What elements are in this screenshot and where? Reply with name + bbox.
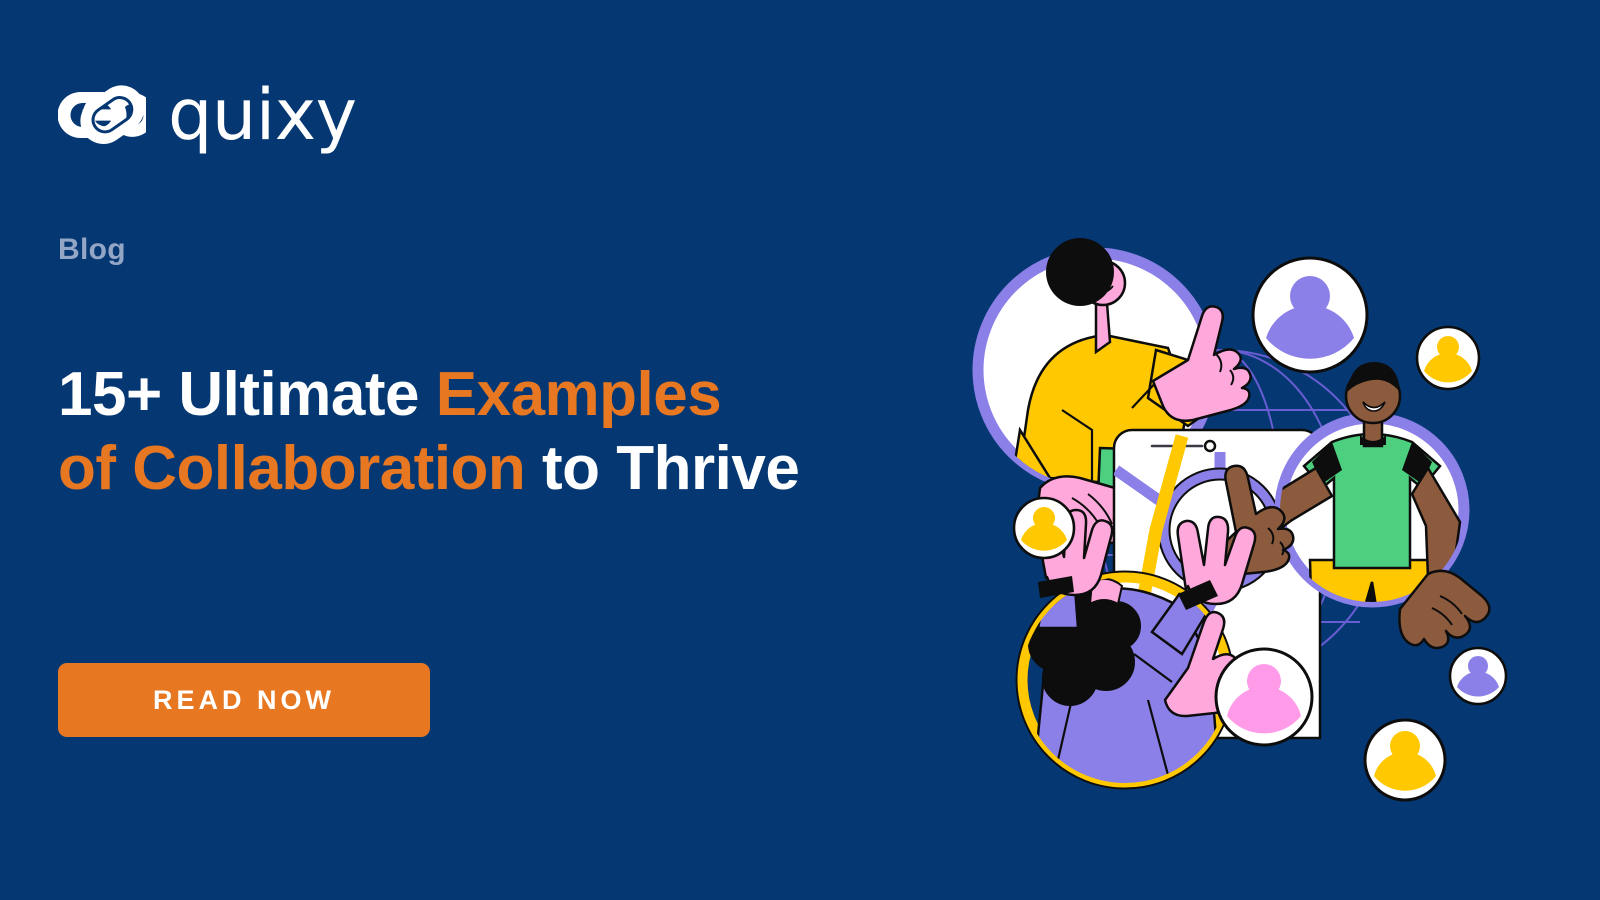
avatar-bubble-yellow-bottom[interactable] <box>1365 720 1445 800</box>
headline-part-4: to Thrive <box>525 434 799 503</box>
team-collaboration-network-illustration <box>920 230 1520 810</box>
avatar-bubble-yellow-small-right[interactable] <box>1417 327 1479 389</box>
avatar-bubble-pink[interactable] <box>1216 649 1312 745</box>
brand-logo[interactable]: quixy <box>58 80 357 150</box>
avatar-bubble-purple-small[interactable] <box>1450 648 1506 704</box>
blog-promo-banner: quixy Blog 15+ Ultimate Examplesof Colla… <box>0 0 1600 900</box>
read-now-button[interactable]: READ NOW <box>58 663 430 737</box>
avatar-bubble-purple-large[interactable] <box>1253 258 1367 372</box>
brand-name: quixy <box>168 80 357 150</box>
headline-part-2: Examples <box>436 360 722 429</box>
page-title: 15+ Ultimate Examplesof Collaboration to… <box>58 358 878 507</box>
headline-part-3: of Collaboration <box>58 434 525 503</box>
headline-part-1: 15+ Ultimate <box>58 360 436 429</box>
head-person-b <box>1346 362 1400 423</box>
eyebrow-label: Blog <box>58 233 126 267</box>
avatar-bubble-yellow-small-left[interactable] <box>1014 498 1074 558</box>
quixy-infinity-loop-logo-icon <box>58 84 146 146</box>
